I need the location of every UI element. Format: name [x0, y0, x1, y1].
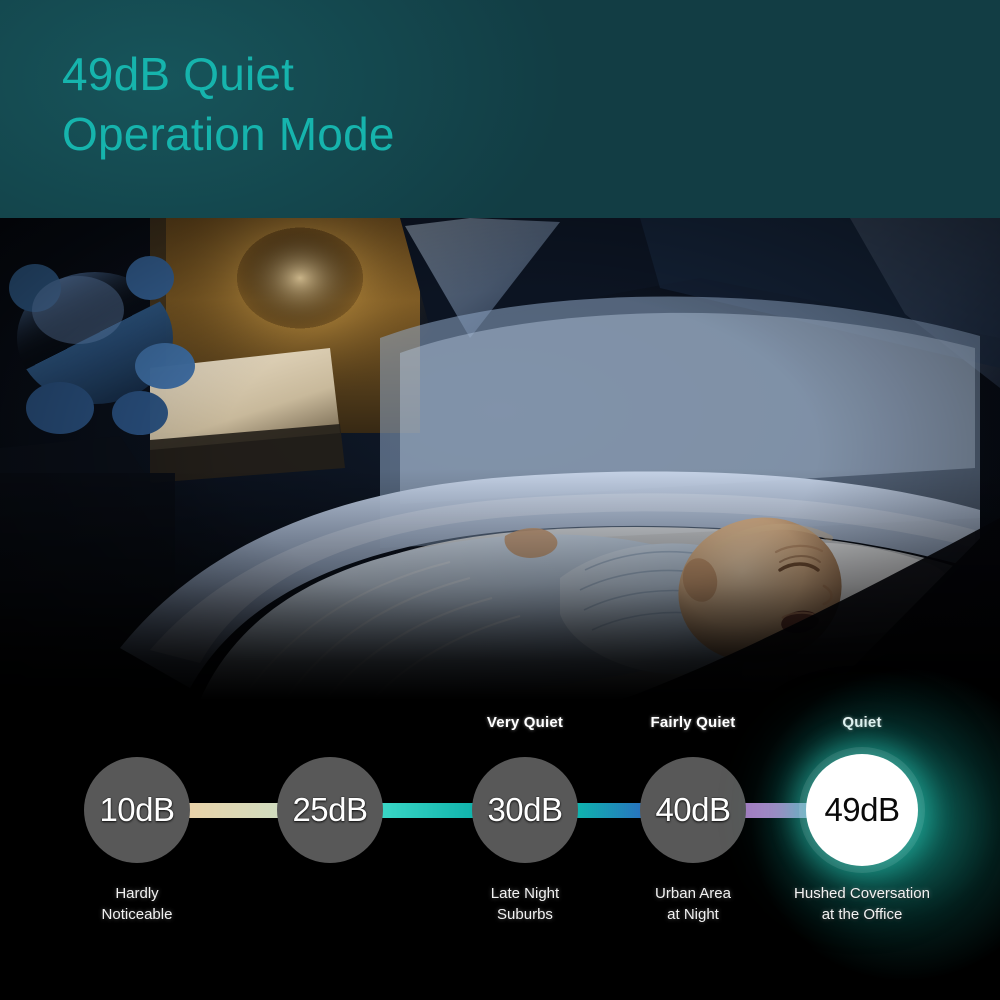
- bottom-label-40db: Urban Area at Night: [655, 883, 731, 925]
- page-title: 49dB Quiet Operation Mode: [62, 44, 942, 164]
- connector-10-25: [188, 803, 284, 818]
- scale-node-40db[interactable]: 40dB: [640, 757, 746, 863]
- product-infographic: 49dB Quiet Operation Mode: [0, 0, 1000, 1000]
- bottom-label-49db: Hushed Coversation at the Office: [794, 883, 930, 925]
- top-label-30db: Very Quiet: [487, 714, 563, 731]
- scale-node-30db[interactable]: 30dB: [472, 757, 578, 863]
- top-label-49db: Quiet: [842, 714, 881, 731]
- bottom-label-30db: Late Night Suburbs: [491, 883, 559, 925]
- connector-40-49: [744, 803, 810, 818]
- scale-node-10db[interactable]: 10dB: [84, 757, 190, 863]
- header-banner: 49dB Quiet Operation Mode: [0, 0, 1000, 218]
- connector-30-40: [576, 803, 646, 818]
- bottom-label-10db: Hardly Noticeable: [102, 883, 173, 925]
- nursery-night-scene: [0, 218, 1000, 700]
- scale-node-49db-active[interactable]: 49dB: [806, 754, 918, 866]
- hero-photo: [0, 218, 1000, 700]
- connector-25-30: [381, 803, 477, 818]
- decibel-scale: Very Quiet Fairly Quiet Quiet 10dB 25dB …: [0, 700, 1000, 1000]
- scale-node-25db[interactable]: 25dB: [277, 757, 383, 863]
- top-label-40db: Fairly Quiet: [651, 714, 736, 731]
